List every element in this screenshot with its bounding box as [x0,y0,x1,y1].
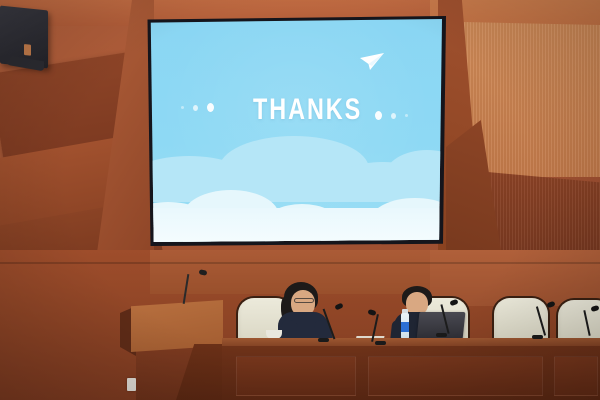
wall-seam [0,262,600,264]
power-outlet-icon [127,378,136,391]
dot-large [375,111,382,120]
dot-large [207,103,214,112]
glasses-icon [294,298,314,303]
dot-medium [193,105,198,111]
dot-trail-left [181,103,214,112]
cloud-base [149,208,442,242]
dot-small [181,106,184,109]
paper-plane-icon [359,52,385,72]
cloud-layer-front [149,180,442,242]
conference-hall-scene: THANKS [0,0,600,400]
speaker-bracket [24,44,31,56]
dais-panel [554,356,598,396]
projection-screen: THANKS [149,19,442,242]
dot-medium [391,113,396,119]
dot-trail-right [375,111,408,120]
mic-base [375,341,386,345]
dais-panel [236,356,356,396]
mic-base [532,335,543,339]
mic-base [436,333,447,337]
mic-base [318,338,329,342]
dot-small [405,114,408,117]
slide-headline: THANKS [253,93,362,127]
dais-panel [368,356,543,396]
bottle-label [401,322,409,332]
